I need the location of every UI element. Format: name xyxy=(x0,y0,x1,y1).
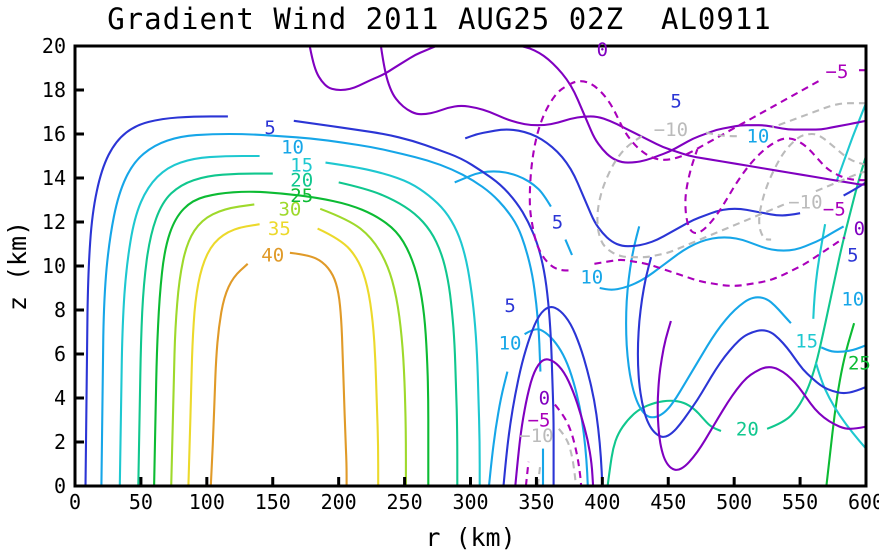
contour-line-40 xyxy=(211,264,248,486)
contour-line-0 xyxy=(658,321,866,470)
y-tick-label: 18 xyxy=(42,78,66,102)
contour-line--10 xyxy=(538,464,541,486)
contour-line-25 xyxy=(154,192,428,486)
contour-label-20: 20 xyxy=(736,418,759,440)
contour-label--5: −5 xyxy=(823,198,846,220)
contour-line-0 xyxy=(310,46,437,90)
contour-label-5: 5 xyxy=(264,117,275,139)
contour-line-20 xyxy=(339,182,458,486)
contour-label-0: 0 xyxy=(854,218,865,240)
contour-line-0 xyxy=(521,46,866,163)
y-tick-label: 20 xyxy=(42,34,66,58)
contour-line-10 xyxy=(626,226,791,417)
x-tick-label: 550 xyxy=(782,490,818,514)
contour-line-30 xyxy=(320,209,406,486)
contour-label-5: 5 xyxy=(552,212,563,234)
contour-line-10 xyxy=(455,171,551,206)
contour-label-10: 10 xyxy=(580,267,603,289)
x-tick-label: 100 xyxy=(189,490,225,514)
y-tick-label: 12 xyxy=(42,210,66,234)
contour-line-35 xyxy=(188,224,259,486)
x-tick-label: 150 xyxy=(255,490,291,514)
x-axis-label: r (km) xyxy=(425,523,515,552)
contour-line-25 xyxy=(826,323,854,486)
contour-label-10: 10 xyxy=(841,289,864,311)
x-tick-label: 300 xyxy=(452,490,488,514)
y-tick-label: 14 xyxy=(42,166,66,190)
x-tick-label: 500 xyxy=(716,490,752,514)
contour-label-35: 35 xyxy=(268,218,291,240)
x-tick-label: 200 xyxy=(321,490,357,514)
contour-label-10: 10 xyxy=(499,333,522,355)
contour-line-40 xyxy=(290,253,347,486)
y-tick-label: 8 xyxy=(54,298,66,322)
contour-label--5: −5 xyxy=(826,61,849,83)
contour-label-5: 5 xyxy=(847,245,858,267)
y-tick-label: 0 xyxy=(54,474,66,498)
contour-plot-figure: Gradient Wind 2011 AUG25 02Z AL0911 4035… xyxy=(0,0,879,559)
contour-line-10 xyxy=(565,240,572,255)
contour-label-5: 5 xyxy=(504,295,515,317)
contour-label-0: 0 xyxy=(539,388,550,410)
contour-line--5 xyxy=(526,462,529,486)
contour-label-15: 15 xyxy=(795,330,818,352)
y-tick-label: 16 xyxy=(42,122,66,146)
contour-label--10: −10 xyxy=(519,425,553,447)
y-axis-label: z (km) xyxy=(3,221,32,311)
x-tick-label: 250 xyxy=(387,490,423,514)
contour-line--5 xyxy=(555,405,581,486)
y-tick-label: 2 xyxy=(54,430,66,454)
contour-label-0: 0 xyxy=(597,39,608,61)
contour-line-0 xyxy=(381,46,866,185)
contour-label-10: 10 xyxy=(281,137,304,159)
contour-label--10: −10 xyxy=(654,119,688,141)
contour-label--10: −10 xyxy=(788,192,822,214)
x-tick-label: 600 xyxy=(848,490,879,514)
y-tick-label: 4 xyxy=(54,386,66,410)
contour-label-10: 10 xyxy=(746,126,769,148)
y-tick-label: 10 xyxy=(42,254,66,278)
contour-label-5: 5 xyxy=(670,91,681,113)
contour-line-5 xyxy=(86,116,228,486)
contour-line--10 xyxy=(759,134,866,240)
contour-label-40: 40 xyxy=(261,245,284,267)
contour-line-10 xyxy=(821,345,866,352)
y-tick-label: 6 xyxy=(54,342,66,366)
x-tick-label: 400 xyxy=(584,490,620,514)
x-tick-label: 450 xyxy=(650,490,686,514)
axes-group: 0501001502002503003504004505005506000246… xyxy=(3,34,879,552)
x-tick-label: 50 xyxy=(129,490,153,514)
x-tick-label: 350 xyxy=(518,490,554,514)
x-tick-label: 0 xyxy=(69,490,81,514)
contour-line--10 xyxy=(597,136,784,257)
contour-label-25: 25 xyxy=(848,352,871,374)
chart-canvas: 403530252520201515101010101055555000−5−5… xyxy=(0,0,879,559)
